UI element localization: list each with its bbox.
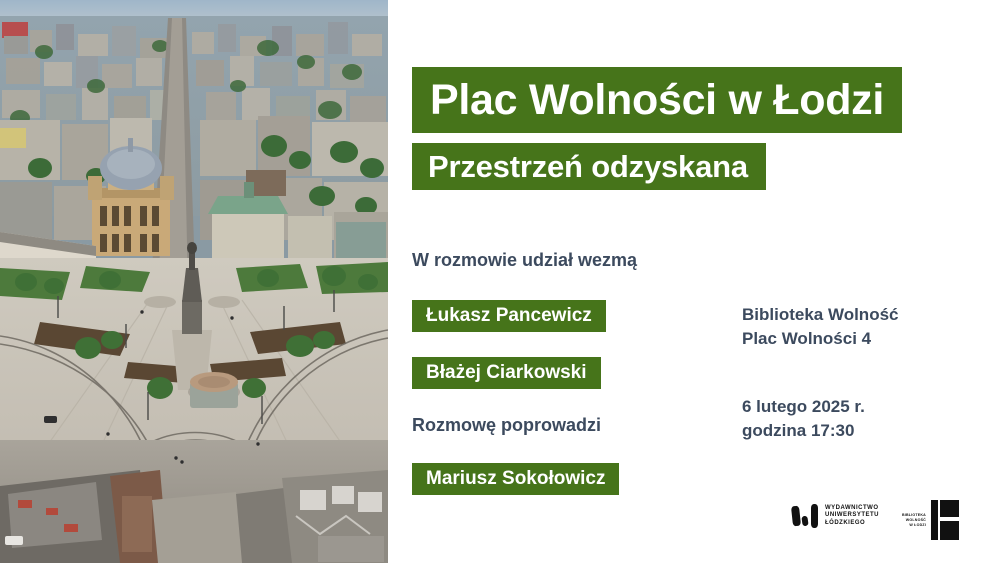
poster-content: Plac Wolności w Łodzi Przestrzeń odzyska… [388, 0, 1000, 563]
library-logo-line-3: W ŁODZI [909, 523, 926, 527]
moderator-name: Mariusz Sokołowicz [412, 463, 619, 495]
venue-line-1: Biblioteka Wolność [742, 303, 899, 327]
page-title: Plac Wolności w Łodzi [412, 67, 902, 133]
event-time: godzina 17:30 [742, 419, 865, 443]
publisher-logo-text: WYDAWNICTWO UNIWERSYTETU ŁÓDZKIEGO [825, 505, 879, 528]
library-b-icon [931, 500, 959, 540]
event-date: 6 lutego 2025 r. [742, 395, 865, 419]
library-logo-line-1: BIBLIOTEKA [902, 513, 926, 517]
event-poster: Plac Wolności w Łodzi Przestrzeń odzyska… [0, 0, 1000, 563]
publisher-logo: WYDAWNICTWO UNIWERSYTETU ŁÓDZKIEGO [792, 504, 879, 528]
moderator-lead-label: Rozmowę poprowadzi [412, 415, 601, 436]
publisher-logo-line-1: WYDAWNICTWO [825, 505, 879, 511]
speaker-name-1: Łukasz Pancewicz [412, 300, 606, 332]
library-logo-text: BIBLIOTEKA WOLNOŚĆ W ŁODZI [902, 513, 926, 528]
speaker-name-2: Błażej Ciarkowski [412, 357, 601, 389]
venue-line-2: Plac Wolności 4 [742, 327, 899, 351]
logo-row: WYDAWNICTWO UNIWERSYTETU ŁÓDZKIEGO BIBLI… [792, 498, 982, 544]
speakers-lead-label: W rozmowie udział wezmą [412, 250, 637, 271]
datetime-block: 6 lutego 2025 r. godzina 17:30 [742, 395, 865, 443]
ul-monogram-icon [792, 504, 818, 528]
venue-block: Biblioteka Wolność Plac Wolności 4 [742, 303, 899, 351]
aerial-photo-plac-wolnosci [0, 0, 388, 563]
page-subtitle: Przestrzeń odzyskana [412, 143, 766, 190]
publisher-logo-line-3: ŁÓDZKIEGO [825, 520, 865, 526]
library-logo-line-2: WOLNOŚĆ [906, 518, 926, 522]
library-logo: BIBLIOTEKA WOLNOŚĆ W ŁODZI [902, 500, 959, 540]
publisher-logo-line-2: UNIWERSYTETU [825, 512, 879, 518]
